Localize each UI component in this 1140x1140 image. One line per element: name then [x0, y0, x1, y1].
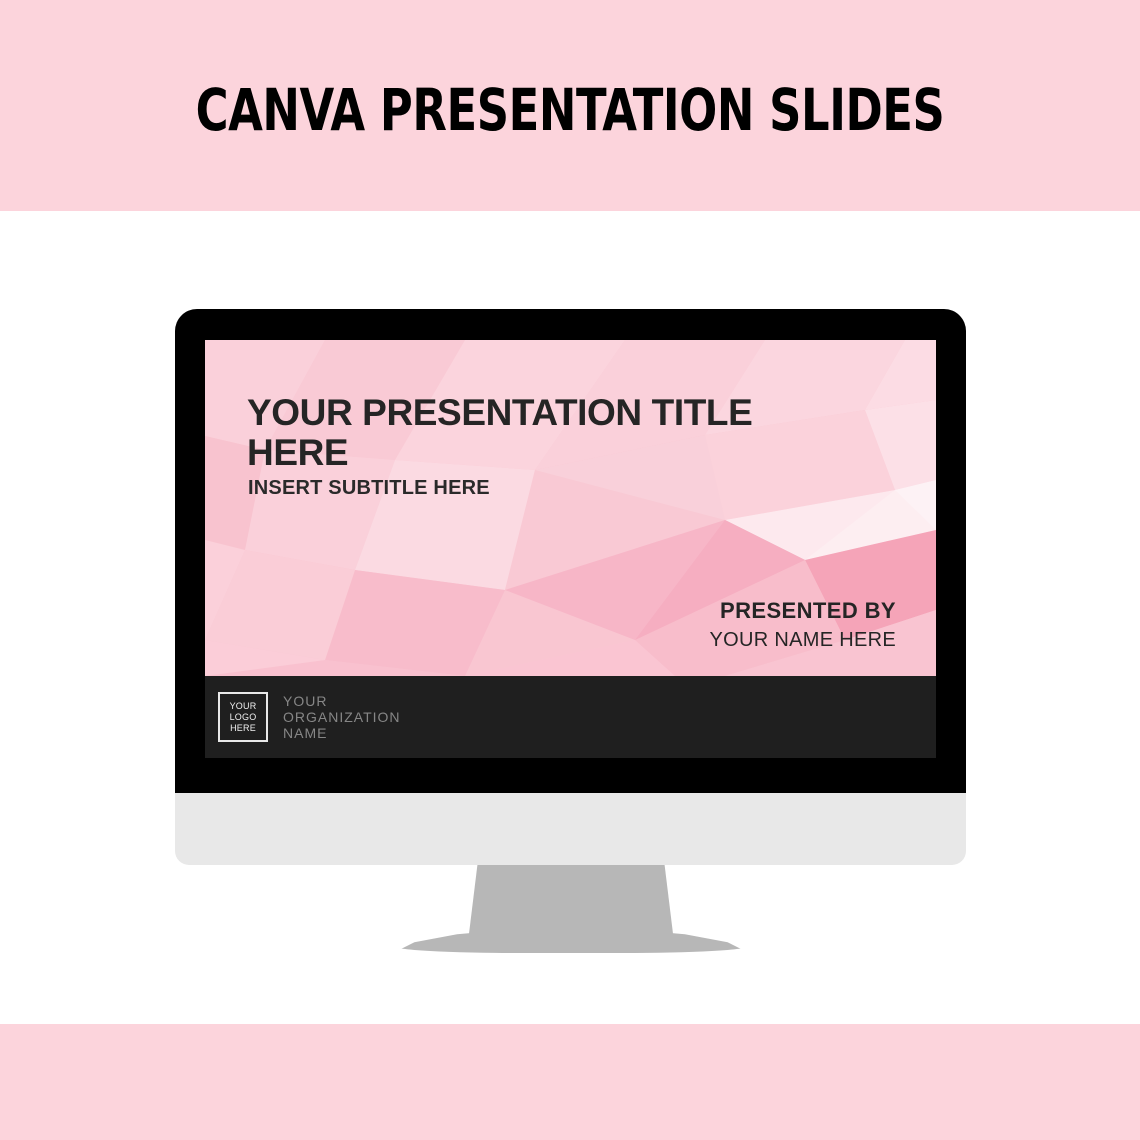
organization-line-3: NAME: [283, 725, 401, 741]
monitor-stand-foot: [393, 929, 749, 953]
logo-line-1: YOUR: [230, 701, 257, 712]
presented-by-label: PRESENTED BY: [710, 598, 896, 624]
logo-placeholder-box[interactable]: YOUR LOGO HERE: [218, 692, 268, 742]
logo-line-2: LOGO: [230, 712, 257, 723]
slide-footer-bar: YOUR LOGO HERE YOUR ORGANIZATION NAME: [205, 676, 936, 758]
slide-title: YOUR PRESENTATION TITLE HERE: [247, 393, 767, 473]
organization-line-2: ORGANIZATION: [283, 709, 401, 725]
logo-line-3: HERE: [230, 723, 256, 734]
presenter-name: YOUR NAME HERE: [710, 627, 896, 653]
presented-by-block: PRESENTED BY YOUR NAME HERE: [710, 598, 896, 653]
monitor-mockup: YOUR PRESENTATION TITLE HERE INSERT SUBT…: [175, 309, 966, 865]
bottom-banner-band: [0, 1024, 1140, 1140]
slide-subtitle: INSERT SUBTITLE HERE: [248, 477, 490, 500]
organization-line-1: YOUR: [283, 693, 401, 709]
banner-title: CANVA PRESENTATION SLIDES: [80, 78, 1060, 142]
monitor-chin: [175, 793, 966, 865]
organization-name: YOUR ORGANIZATION NAME: [283, 693, 401, 741]
presentation-slide[interactable]: YOUR PRESENTATION TITLE HERE INSERT SUBT…: [205, 340, 936, 758]
page-root: CANVA PRESENTATION SLIDES: [0, 0, 1140, 1140]
